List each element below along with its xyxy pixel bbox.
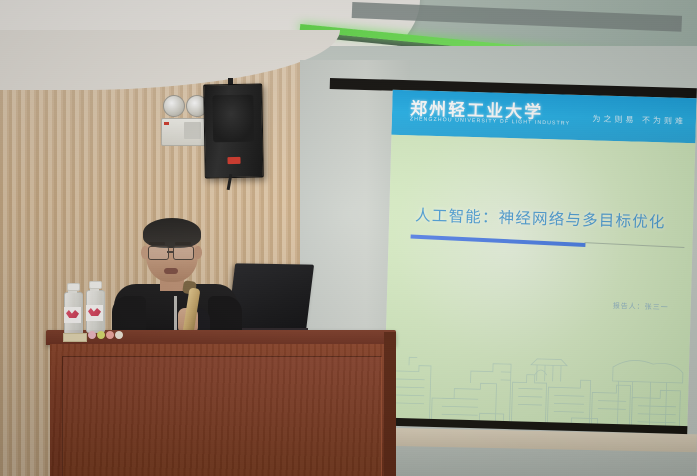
podium-right-edge: [384, 332, 396, 476]
wall-speaker: [203, 83, 264, 178]
presenter-eyebrow-right: [175, 242, 191, 245]
podium-item-icon: [88, 331, 96, 339]
slide-title-hairline: [584, 242, 684, 248]
emergency-light-panel: [184, 122, 201, 139]
glasses-lens-left-icon: [148, 246, 169, 260]
speaker-brand-logo-icon: [227, 157, 240, 164]
slide-body: 人工智能：神经网络与多目标优化 报告人：张三一: [383, 135, 695, 433]
podium-item-icon: [97, 331, 105, 339]
slide-presenter-label: 报告人：张三一: [613, 301, 669, 313]
glasses-bridge-icon: [167, 251, 173, 253]
podium-item-icon: [115, 331, 123, 339]
lecture-photo: 人工智能：神经网络与多目标优化 报告人：张三一 郑州轻工业大学 ZHENGZHO…: [0, 0, 697, 476]
presenter-mouth: [164, 268, 178, 274]
university-motto: 为之则易 不为则难: [592, 113, 686, 127]
slide-title: 人工智能：神经网络与多目标优化: [415, 203, 681, 232]
speaker-cone-icon: [212, 95, 254, 143]
university-name-en: ZHENGZHOU UNIVERSITY OF LIGHT INDUSTRY: [410, 116, 570, 126]
presenter-eyebrow-left: [149, 242, 165, 245]
water-bottle[interactable]: [64, 283, 81, 333]
glasses-lens-right-icon: [173, 246, 194, 260]
emergency-lamp-left-icon: [163, 95, 185, 117]
emergency-light-indicator-icon: [164, 122, 169, 125]
presenter-ear-right: [194, 246, 202, 259]
bottle-cap: [89, 281, 102, 289]
slide-title-underline: [411, 234, 586, 247]
bottle-cap: [67, 283, 80, 291]
podium-item-icon: [106, 331, 114, 339]
podium-wood-grain: [50, 344, 392, 476]
water-bottle[interactable]: [86, 281, 103, 331]
screen-surface: 人工智能：神经网络与多目标优化 报告人：张三一 郑州轻工业大学 ZHENGZHO…: [383, 90, 696, 433]
name-card: [63, 333, 87, 342]
floor: [395, 446, 697, 476]
